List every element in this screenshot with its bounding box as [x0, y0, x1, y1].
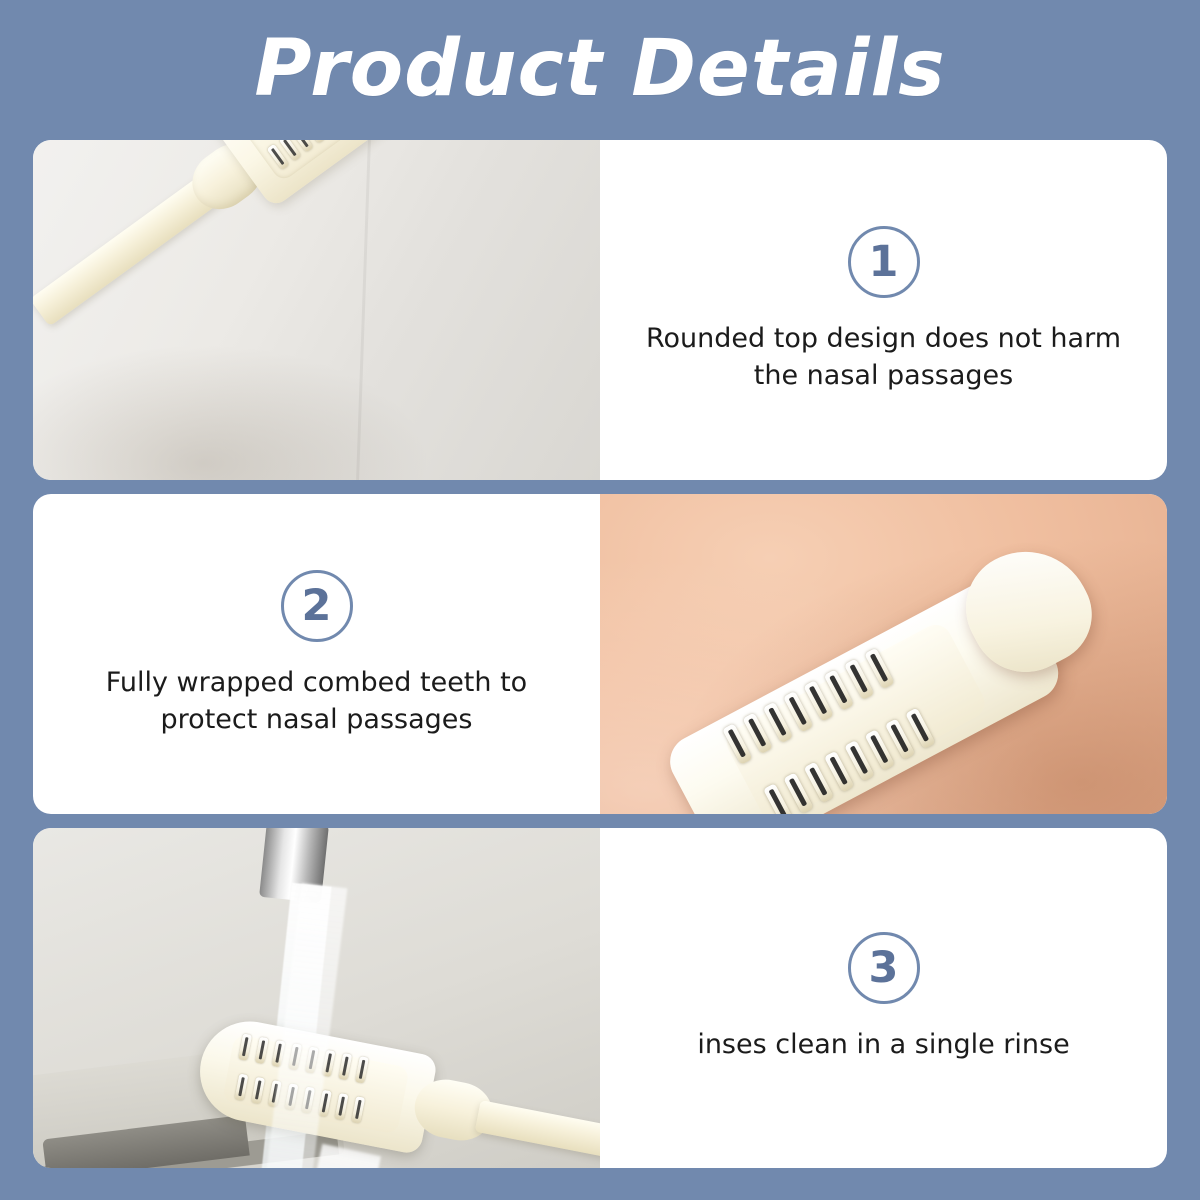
feature-panel-2: 2 Fully wrapped combed teeth to protect … — [33, 494, 1167, 814]
comb-tooth — [338, 1053, 352, 1080]
device-rinsed-under-faucet-image — [33, 828, 600, 1168]
feature-caption-1: Rounded top design does not harm the nas… — [644, 320, 1124, 395]
comb-tooth — [285, 1083, 299, 1110]
feature-1-photo — [33, 140, 600, 480]
feature-panel-1: 1 Rounded top design does not harm the n… — [33, 140, 1167, 480]
comb-tooth — [335, 1093, 349, 1120]
nasal-trimmer-device — [33, 140, 455, 361]
comb-tooth — [255, 1037, 269, 1064]
comb-tooth — [305, 1047, 319, 1074]
comb-tooth — [301, 1087, 315, 1114]
feature-caption-3: inses clean in a single rinse — [697, 1026, 1069, 1063]
feature-2-text: 2 Fully wrapped combed teeth to protect … — [33, 494, 600, 814]
comb-tooth — [272, 1040, 286, 1067]
feature-3-photo — [33, 828, 600, 1168]
comb-tooth — [268, 1080, 282, 1107]
feature-panel-3: 3 inses clean in a single rinse — [33, 828, 1167, 1168]
comb-tooth — [251, 1077, 265, 1104]
feature-1-text: 1 Rounded top design does not harm the n… — [600, 140, 1167, 480]
page-title: Product Details — [0, 24, 1200, 114]
feature-2-photo — [600, 494, 1167, 814]
feature-caption-2: Fully wrapped combed teeth to protect na… — [77, 664, 557, 739]
comb-tooth — [318, 1090, 332, 1117]
device-head-on-skin-image — [600, 494, 1167, 814]
feature-number-badge-2: 2 — [281, 570, 353, 642]
product-details-infographic: Product Details — [0, 0, 1200, 1200]
comb-tooth — [288, 1043, 302, 1070]
device-handle — [475, 1100, 600, 1160]
feature-3-text: 3 inses clean in a single rinse — [600, 828, 1167, 1168]
comb-tooth — [322, 1050, 336, 1077]
feature-number-badge-3: 3 — [848, 932, 920, 1004]
device-head-closeup-on-wall-image — [33, 140, 600, 480]
feature-number-badge-1: 1 — [848, 226, 920, 298]
soft-shadow — [33, 344, 430, 480]
